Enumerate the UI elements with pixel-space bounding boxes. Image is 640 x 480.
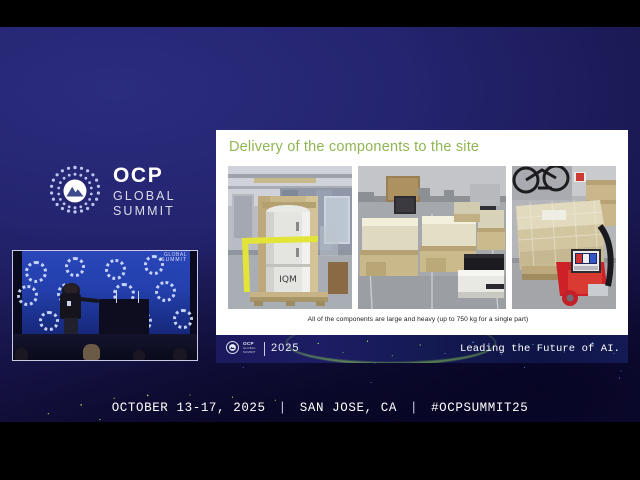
slide-footer-logo: OCP GLOBAL SUMMIT (226, 341, 256, 354)
ocp-global-summit-logo: OCP GLOBAL SUMMIT (46, 160, 196, 222)
ocp-starburst-mountain-icon (46, 162, 104, 220)
backdrop-halo (17, 285, 38, 306)
photo-cylindrical-vessel-crate: IQM (228, 166, 352, 309)
speaker-figure (59, 284, 83, 341)
audience-head (173, 348, 187, 360)
backdrop-halo (105, 259, 126, 280)
backdrop-logo-summit: SUMMIT (161, 258, 187, 263)
footer-logo-summit: SUMMIT (243, 351, 256, 354)
livestream-video[interactable]: OCP GLOBAL SUMMIT GLOBAL SUMMIT (0, 27, 640, 422)
backdrop-halo (155, 281, 176, 302)
microphone-stand-icon (116, 290, 117, 303)
event-separator: | (266, 401, 300, 415)
event-location: SAN JOSE, CA (300, 401, 397, 415)
footer-divider (264, 342, 265, 356)
backdrop-halo (173, 309, 193, 329)
ocp-circle-logo-icon (226, 341, 239, 354)
event-dates: OCTOBER 13-17, 2025 (112, 401, 266, 415)
event-separator: | (397, 401, 431, 415)
footer-year: 2025 (271, 342, 299, 354)
footer-tagline: Leading the Future of AI. (460, 343, 620, 355)
logo-line-global: GLOBAL (113, 190, 176, 203)
photo-wooden-crates-warehouse (358, 166, 506, 309)
slide-footer-bar: OCP GLOBAL SUMMIT 2025 Leading the Futur… (216, 335, 628, 363)
audience-head (133, 350, 145, 360)
screenshot-root: OCP GLOBAL SUMMIT GLOBAL SUMMIT (0, 0, 640, 480)
audience-head (83, 344, 100, 360)
presentation-slide[interactable]: Delivery of the components to the site (216, 130, 628, 363)
backdrop-halo (65, 257, 85, 277)
microphone-stand-icon (138, 291, 139, 303)
speaker-video-inset[interactable]: GLOBAL SUMMIT (12, 250, 198, 361)
photo-wrapped-pallet-jack (512, 166, 616, 309)
speaker-badge (67, 301, 71, 306)
speaker-body (60, 293, 81, 319)
backdrop-halo (25, 261, 47, 283)
backdrop-logo: GLOBAL SUMMIT (161, 253, 187, 263)
event-banner: OCTOBER 13-17, 2025 | SAN JOSE, CA | #OC… (0, 395, 640, 421)
slide-caption: All of the components are large and heav… (216, 316, 620, 323)
letterbox-top (0, 0, 640, 27)
logo-line-ocp: OCP (113, 165, 176, 186)
letterbox-bottom (0, 422, 640, 480)
audience-head (15, 348, 28, 360)
backdrop-halo (39, 311, 59, 331)
svg-text:IQM: IQM (279, 275, 297, 285)
event-hashtag: #OCPSUMMIT25 (431, 401, 528, 415)
slide-title: Delivery of the components to the site (229, 139, 479, 155)
logo-line-summit: SUMMIT (113, 205, 176, 218)
stage-floor (13, 334, 197, 360)
